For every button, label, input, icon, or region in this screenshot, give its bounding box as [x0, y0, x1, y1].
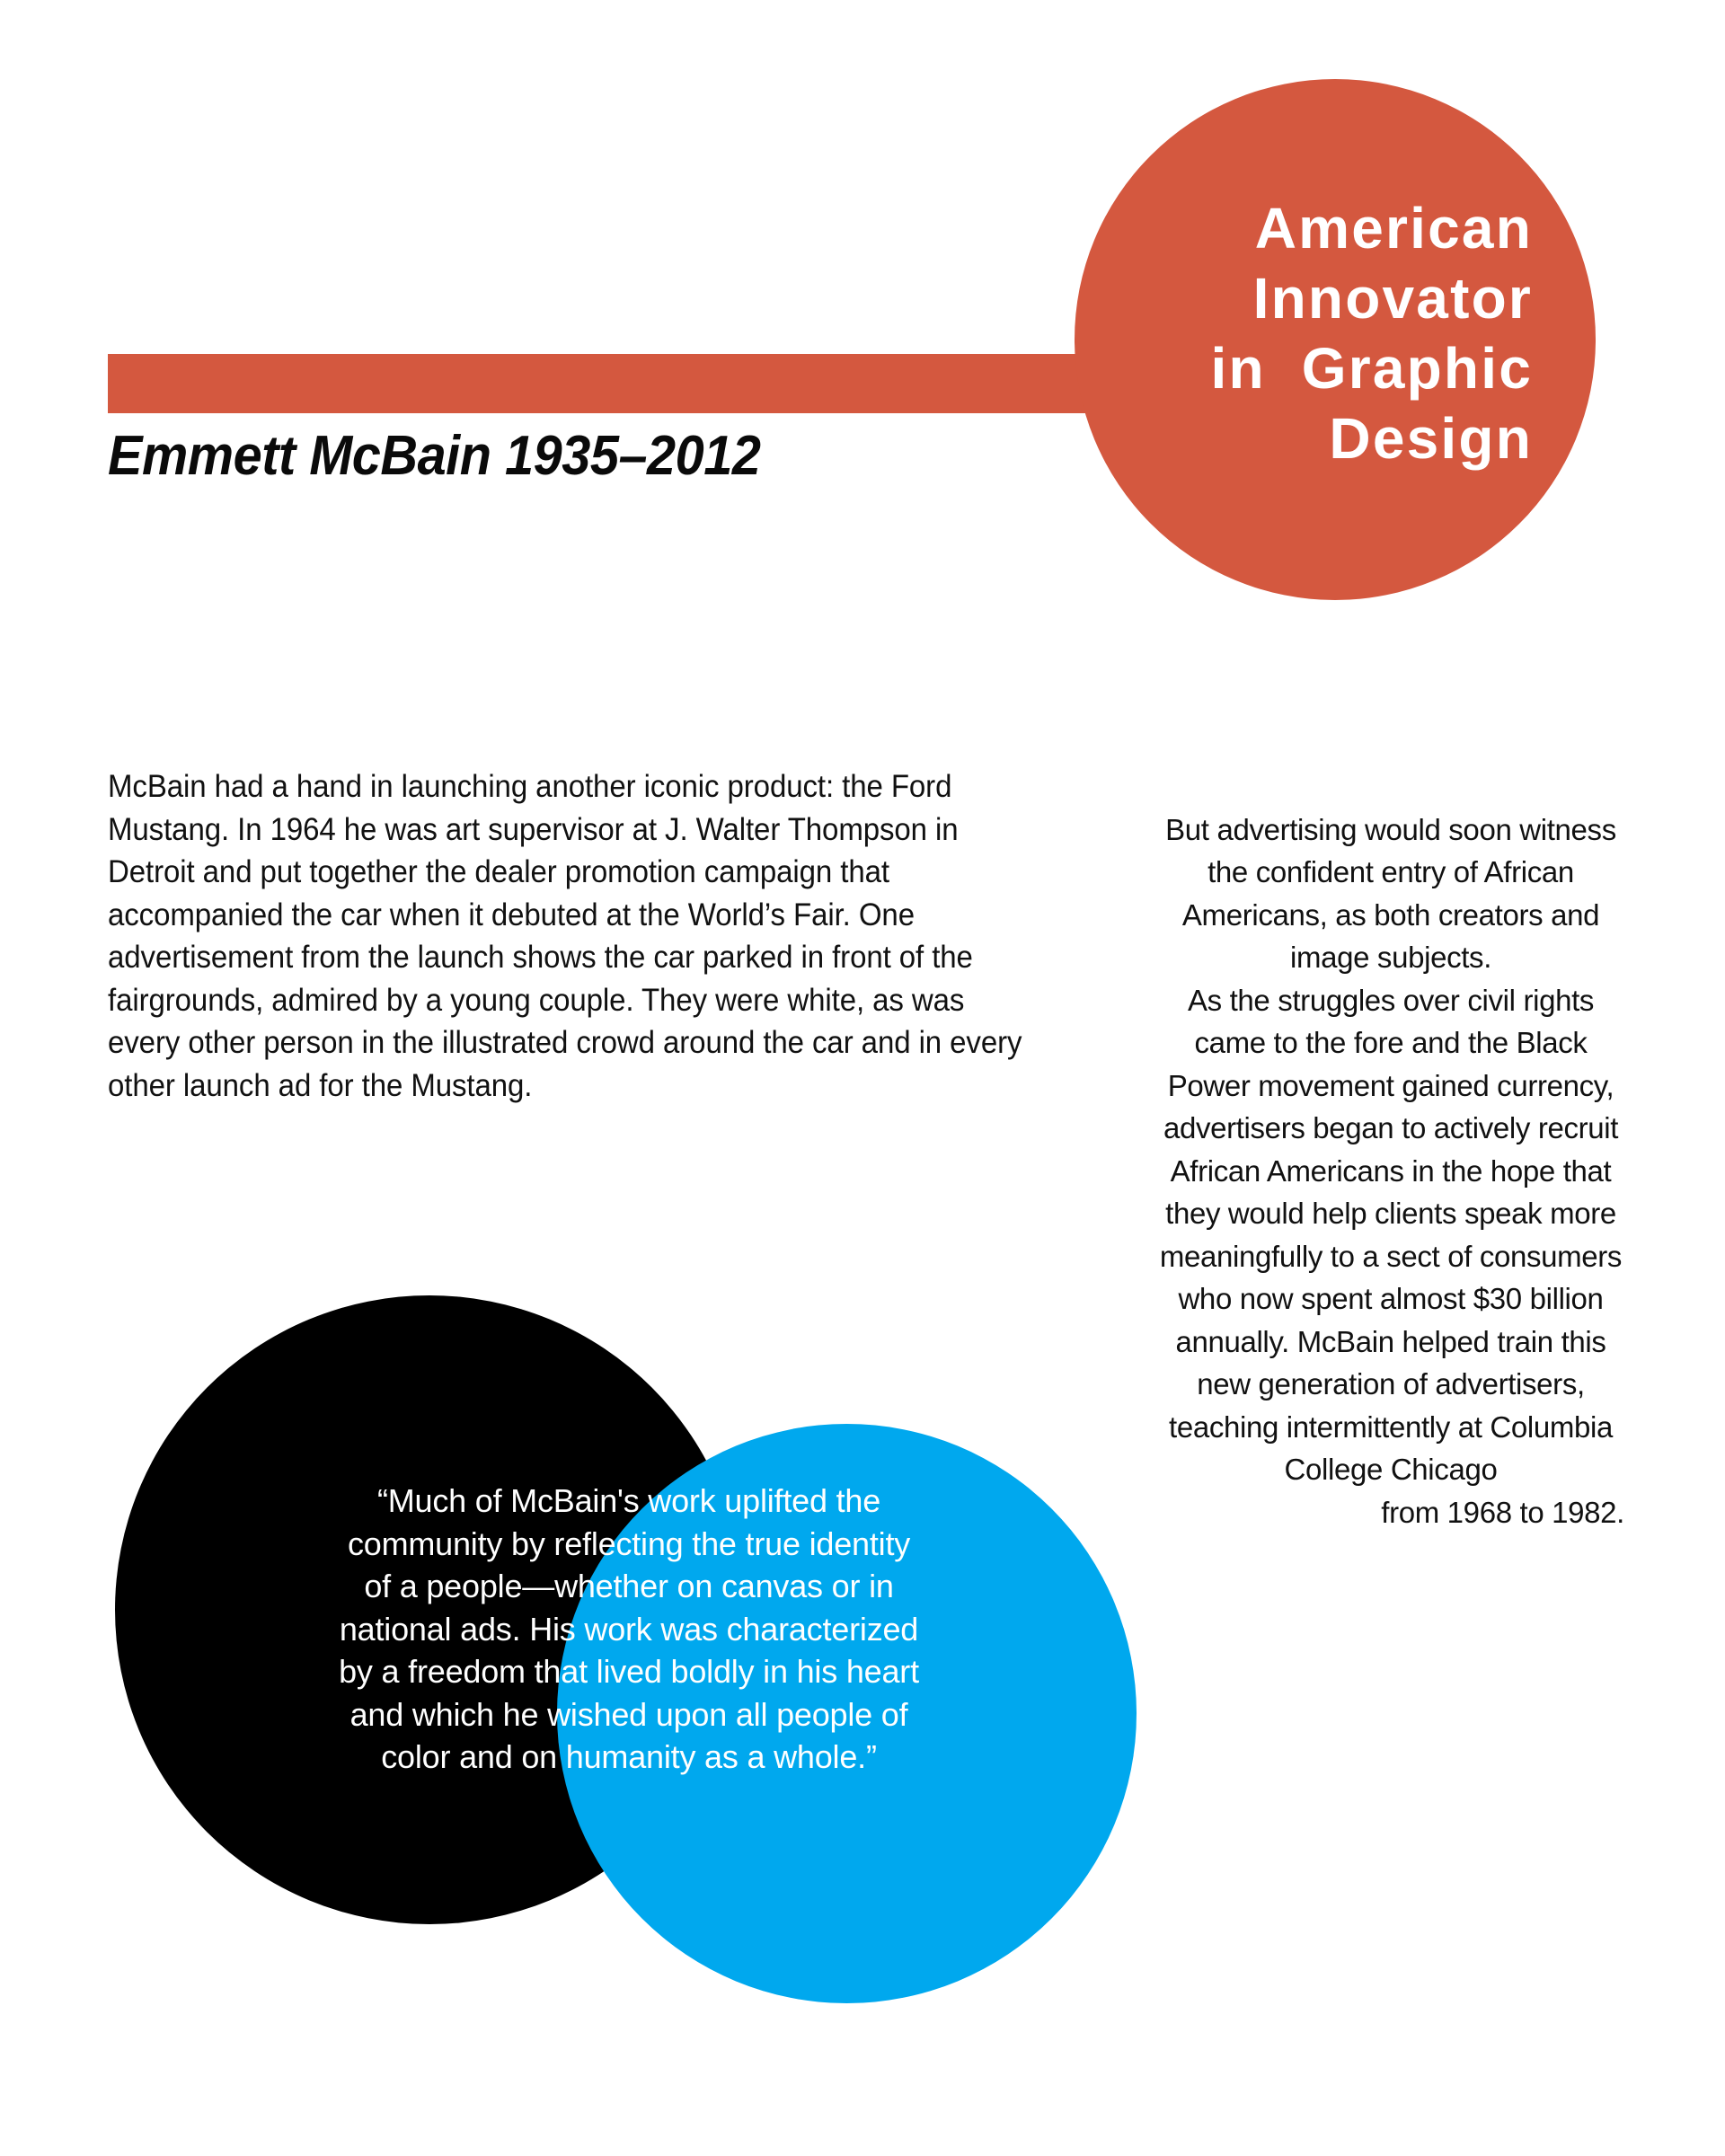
- pull-quote-text: “Much of McBain's work uplifted the comm…: [332, 1480, 925, 1779]
- page-title: American Innovator in Graphic Design: [1075, 193, 1533, 473]
- poster-page: American Innovator in Graphic Design Emm…: [0, 0, 1725, 2156]
- header-band: American Innovator in Graphic Design Emm…: [0, 0, 1725, 719]
- header-rule-bar: [108, 354, 1096, 413]
- pull-quote-zone: “Much of McBain's work uplifted the comm…: [0, 1258, 1725, 2156]
- article-column-left: McBain had a hand in launching another i…: [108, 765, 1035, 1107]
- byline-subject-and-dates: Emmett McBain 1935–2012: [108, 424, 760, 488]
